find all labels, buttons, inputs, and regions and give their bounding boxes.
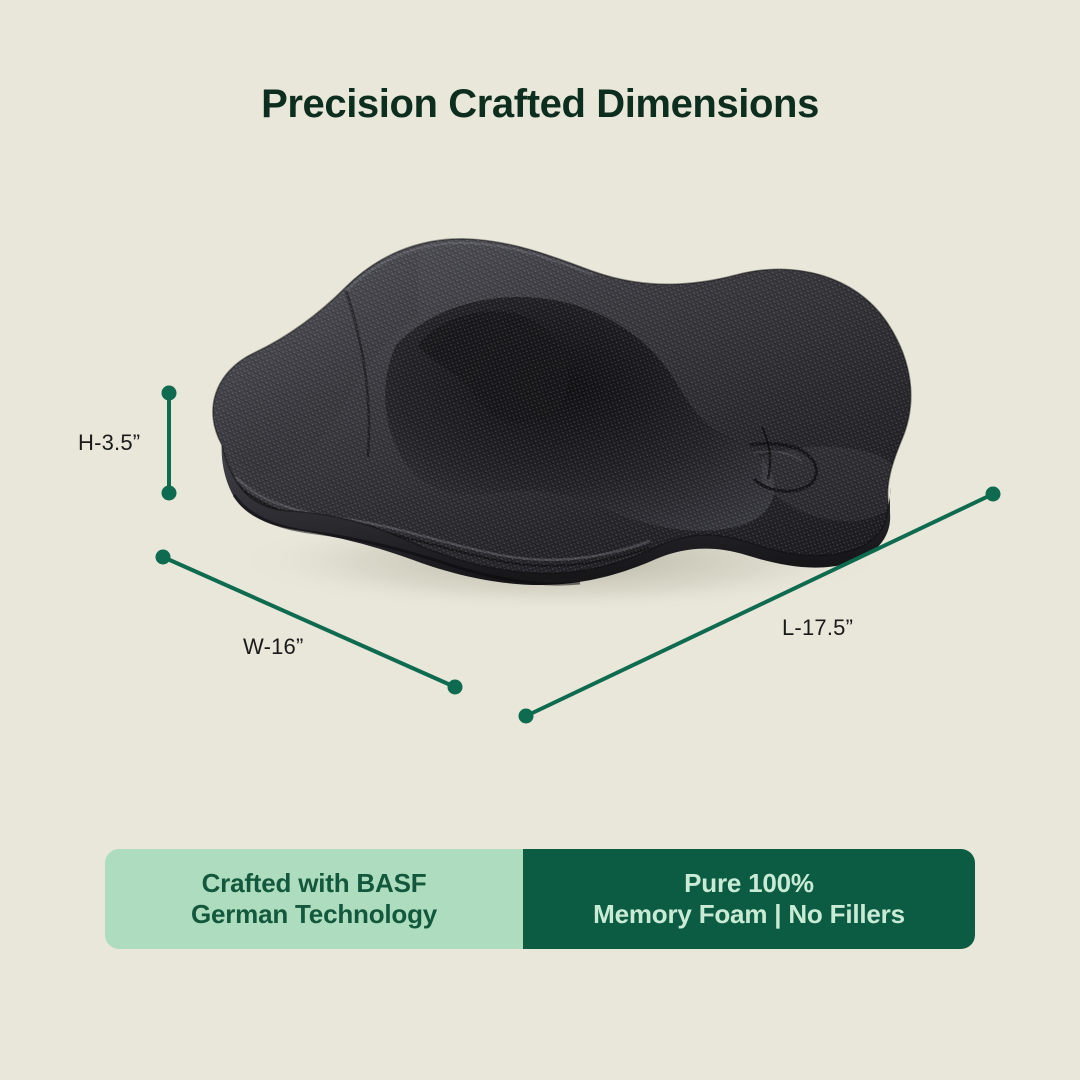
dimension-endpoint-dot <box>986 487 1001 502</box>
dimension-endpoint-dot <box>519 709 534 724</box>
page-title: Precision Crafted Dimensions <box>0 82 1080 127</box>
banner-foam-line-1: Pure 100% <box>593 868 905 899</box>
infographic-canvas: Precision Crafted Dimensions <box>0 0 1080 1080</box>
dimension-endpoint-dot <box>448 680 463 695</box>
banner-panel-basf-technology: Crafted with BASF German Technology <box>105 849 523 949</box>
dimension-label-width: W-16” <box>243 634 304 660</box>
banner-foam-line-2: Memory Foam | No Fillers <box>593 899 905 930</box>
banner-basf-line-1: Crafted with BASF <box>191 868 437 899</box>
banner-panel-memory-foam: Pure 100% Memory Foam | No Fillers <box>523 849 975 949</box>
benefits-banner: Crafted with BASF German Technology Pure… <box>105 849 975 949</box>
product-image <box>150 195 970 625</box>
dimension-label-height: H-3.5” <box>78 430 140 456</box>
banner-basf-line-2: German Technology <box>191 899 437 930</box>
seat-cushion-illustration <box>150 195 970 625</box>
